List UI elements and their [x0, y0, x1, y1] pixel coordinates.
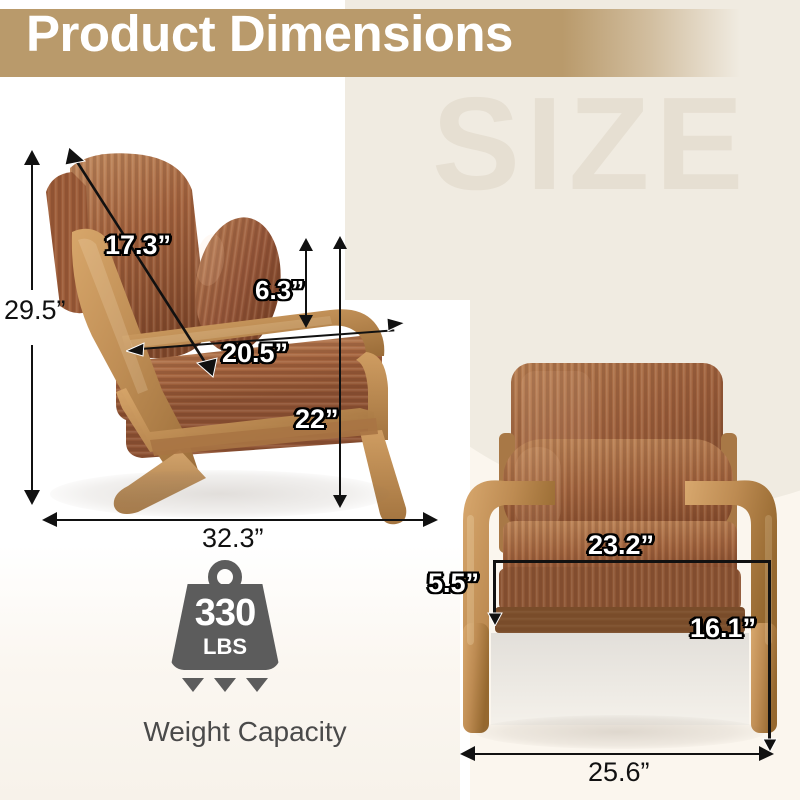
dim-line-seat-to-arm-total: [339, 245, 341, 503]
down-triangle-icon-2: [214, 678, 236, 692]
dim-line-seat-height: [768, 560, 771, 746]
dim-label-backrest-height: 17.3”: [105, 232, 171, 259]
dim-arrow-left-seat-depth: [126, 337, 146, 357]
page-title: Product Dimensions: [26, 8, 513, 59]
dim-line-cushion-thickness: [493, 560, 496, 620]
dim-label-seat-to-arm-total: 22”: [295, 406, 339, 433]
dim-arrow-left-overall-width: [460, 746, 476, 762]
infographic-canvas: SIZE Product Dimensions: [0, 0, 800, 800]
watermark-size-text: SIZE: [432, 78, 749, 210]
dim-line-overall-height: [31, 160, 33, 290]
front-view-floor-shadow: [475, 715, 765, 749]
dim-arrow-down-seat-to-arm: [332, 494, 348, 508]
dim-arrow-down-overall-height: [23, 489, 41, 505]
dim-label-overall-height: 29.5”: [4, 297, 66, 324]
down-triangle-icon-1: [182, 678, 204, 692]
weight-capacity-badge: 330 LBS Weight Capacity: [120, 560, 370, 760]
dim-arrow-left-overall-depth: [42, 512, 58, 528]
weight-capacity-caption: Weight Capacity: [115, 718, 375, 746]
dim-label-seat-depth: 20.5”: [222, 340, 288, 367]
dim-line-overall-height-lower: [31, 345, 33, 500]
dim-label-seat-width: 23.2”: [588, 532, 654, 559]
dim-line-arm-to-seat: [305, 248, 307, 323]
dim-arrow-down-cushion-thickness: [487, 612, 503, 626]
dim-line-seat-width: [493, 560, 771, 563]
dim-arrow-up-arm-to-seat: [298, 238, 314, 252]
dim-label-arm-to-seat: 6.3”: [255, 277, 304, 303]
weight-capacity-unit: LBS: [170, 636, 280, 658]
dim-label-overall-depth: 32.3”: [202, 525, 264, 552]
dim-arrow-right-overall-depth: [422, 512, 438, 528]
weight-capacity-number: 330: [170, 594, 280, 632]
dim-label-overall-width: 25.6”: [588, 759, 650, 786]
dim-label-seat-height: 16.1”: [690, 615, 756, 642]
dim-arrow-right-seat-depth: [385, 318, 405, 338]
dim-arrow-down-arm-to-seat: [298, 314, 314, 328]
dim-arrow-up-seat-to-arm: [332, 236, 348, 250]
dim-arrow-right-overall-width: [758, 746, 774, 762]
dim-arrow-up-overall-height: [23, 150, 41, 166]
dim-line-overall-depth: [50, 519, 426, 521]
down-triangle-icon-3: [246, 678, 268, 692]
weight-icon: 330 LBS: [170, 560, 280, 670]
dim-label-cushion-thickness: 5.5”: [428, 570, 479, 597]
dim-line-overall-width: [468, 753, 762, 755]
